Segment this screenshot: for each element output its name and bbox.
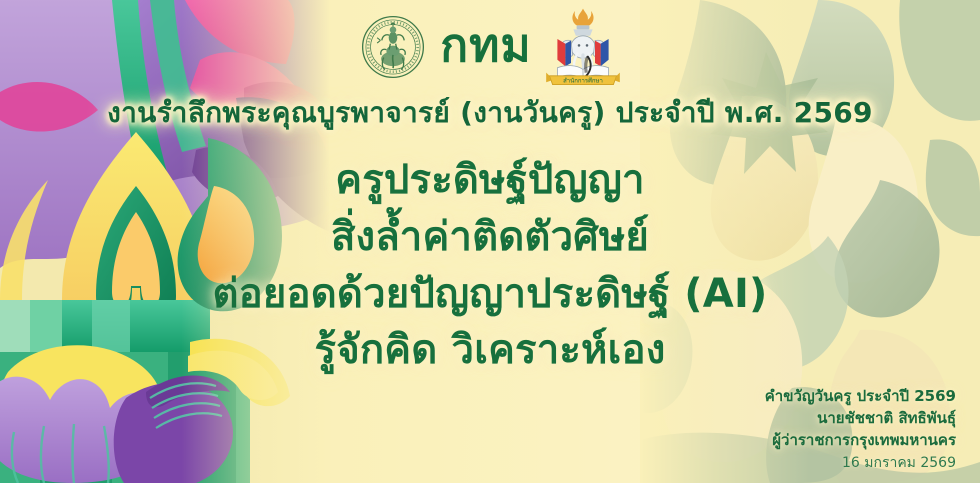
slogan-line-4: รู้จักคิด วิเคราะห์เอง	[0, 322, 980, 379]
education-department-emblem-icon: สำนักการศึกษา	[546, 7, 620, 87]
slogan-line-2: สิ่งล้ำค่าติดตัวศิษย์	[0, 209, 980, 266]
teachers-day-banner: กทม	[0, 0, 980, 483]
slogan-block: ครูประดิษฐ์ปัญญา สิ่งล้ำค่าติดตัวศิษย์ ต…	[0, 152, 980, 379]
attribution-date: 16 มกราคม 2569	[596, 453, 956, 474]
attribution-name: นายชัชชาติ สิทธิพันธุ์	[596, 408, 956, 430]
attribution-caption: คำขวัญวันครู ประจำปี 2569	[596, 386, 956, 408]
attribution-position: ผู้ว่าราชการกรุงเทพมหานคร	[596, 430, 956, 452]
bma-seal-icon	[360, 14, 426, 80]
attribution-block: คำขวัญวันครู ประจำปี 2569 นายชัชชาติ สิท…	[596, 386, 956, 474]
banner-header: กทม	[0, 6, 980, 88]
org-abbreviation: กทม	[440, 22, 532, 68]
slogan-line-1: ครูประดิษฐ์ปัญญา	[0, 152, 980, 209]
event-subtitle: งานรำลึกพระคุณบูรพาจารย์ (งานวันครู) ประ…	[0, 96, 980, 130]
svg-text:สำนักการศึกษา: สำนักการศึกษา	[563, 78, 603, 85]
slogan-line-3: ต่อยอดด้วยปัญญาประดิษฐ์ (AI)	[0, 266, 980, 323]
